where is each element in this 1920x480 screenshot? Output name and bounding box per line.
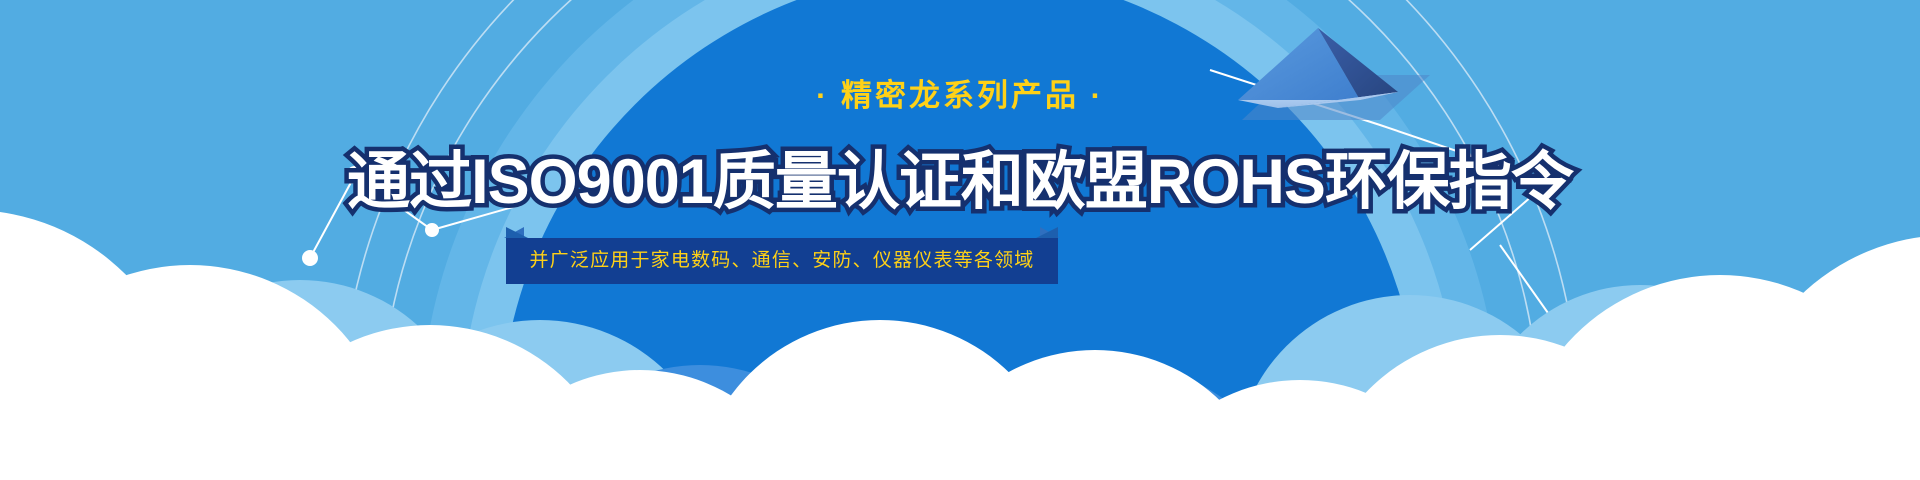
banner-background-art [0,0,1920,480]
promo-banner: · 精密龙系列产品 · 通过ISO9001质量认证和欧盟ROHS环保指令 并广泛… [0,0,1920,480]
